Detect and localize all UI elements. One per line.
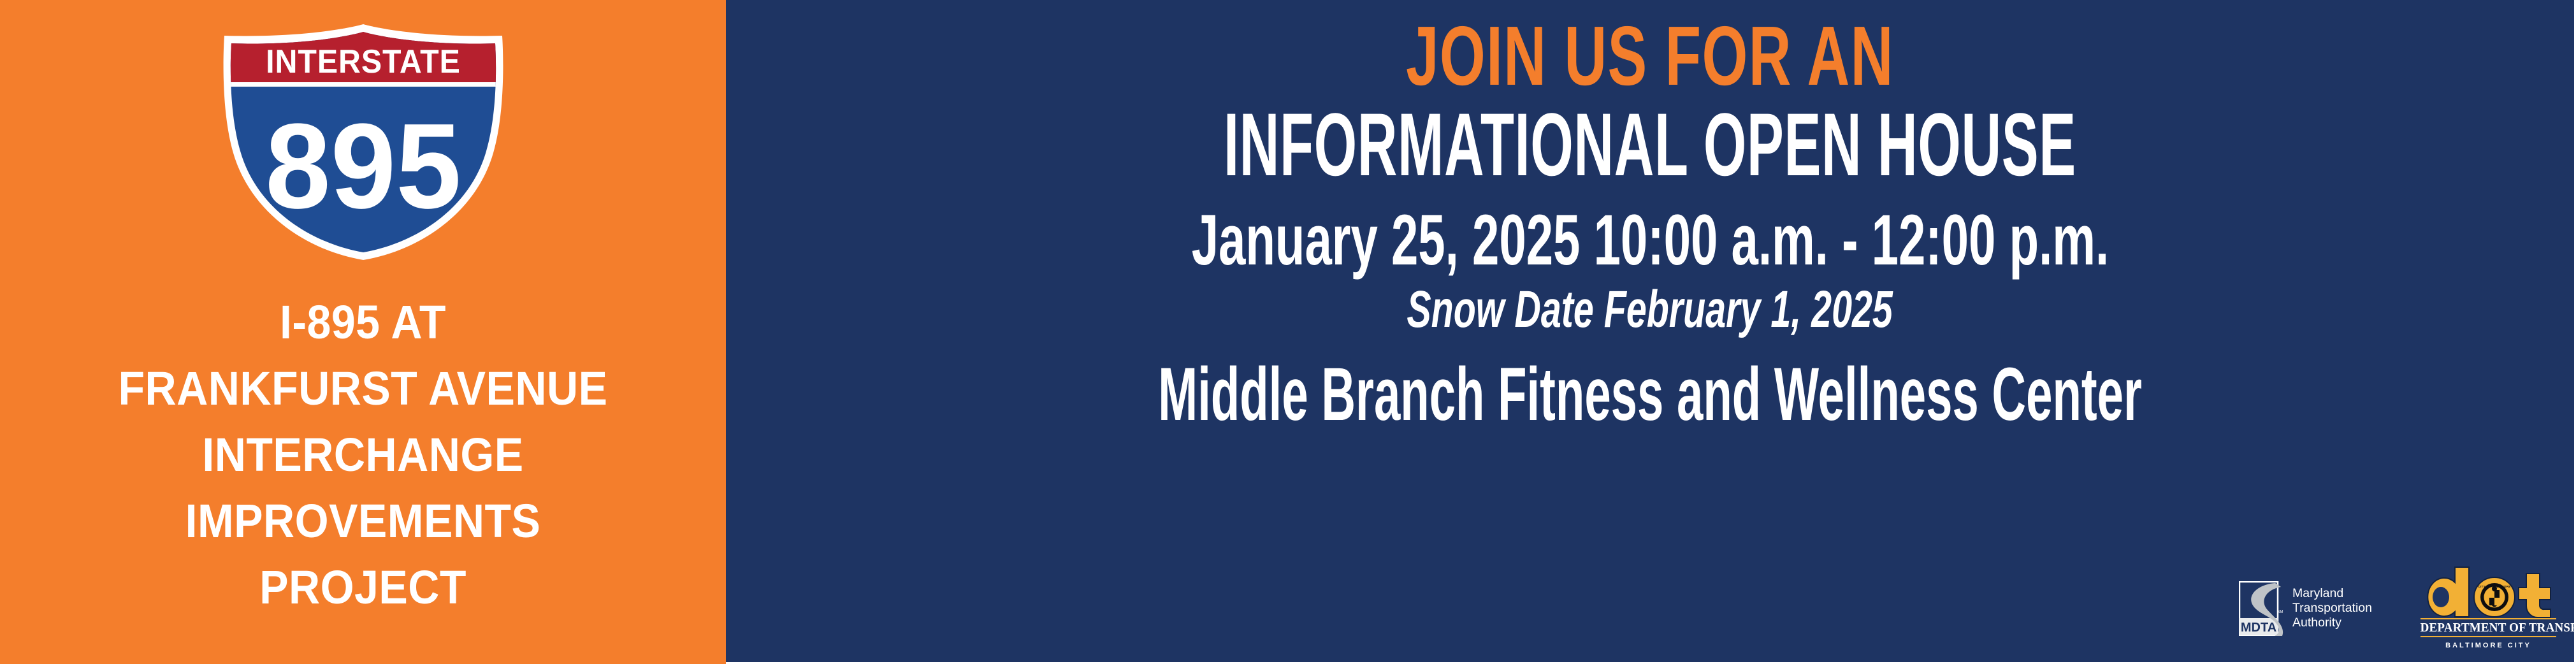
dot-rule-top [2420, 618, 2556, 619]
svg-text:MDTA: MDTA [2241, 621, 2276, 635]
mdta-name-line-2: Transportation [2292, 601, 2372, 616]
svg-text:CITY OF BALTIMORE: CITY OF BALTIMORE [2478, 585, 2510, 588]
svg-text:SM: SM [2277, 610, 2283, 614]
project-title-line-5: PROJECT [29, 554, 697, 621]
project-title-line-3: INTERCHANGE [29, 422, 697, 488]
project-title: I-895 AT FRANKFURST AVENUE INTERCHANGE I… [0, 289, 726, 621]
dot-rule-bottom [2420, 636, 2556, 637]
mdta-name-line-3: Authority [2292, 616, 2372, 630]
event-venue: Middle Branch Fitness and Wellness Cente… [1158, 354, 2142, 435]
dot-department-label: DEPARTMENT OF TRANSPORTATION [2420, 621, 2557, 635]
headline-secondary: INFORMATIONAL OPEN HOUSE [1224, 97, 2076, 192]
project-title-line-2: FRANKFURST AVENUE [29, 356, 697, 422]
dot-wordmark-icon: CITY OF BALTIMORE [2417, 566, 2560, 618]
svg-text:INTERSTATE: INTERSTATE [266, 43, 461, 80]
agency-logo-row: MDTA SM Maryland Transportation Authorit… [2239, 566, 2560, 651]
snow-date: Snow Date February 1, 2025 [1407, 280, 1893, 339]
svg-text:895: 895 [265, 98, 461, 233]
dot-city-label: BALTIMORE CITY [2417, 640, 2560, 651]
baltimore-city-dot-logo: CITY OF BALTIMORE DEPARTMENT OF TRANSPOR… [2417, 566, 2560, 651]
headline-primary: JOIN US FOR AN [1406, 11, 1894, 101]
mdta-mark-icon: MDTA SM [2239, 581, 2283, 636]
mdta-logo: MDTA SM Maryland Transportation Authorit… [2239, 581, 2372, 636]
mdta-name-line-1: Maryland [2292, 586, 2372, 601]
mdta-agency-name: Maryland Transportation Authority [2292, 586, 2372, 630]
event-details-panel: JOIN US FOR AN INFORMATIONAL OPEN HOUSE … [726, 0, 2576, 664]
project-identity-panel: INTERSTATE 895 I-895 AT FRANKFURST AVENU… [0, 0, 726, 664]
interstate-895-shield-icon: INTERSTATE 895 [219, 22, 507, 263]
event-datetime: January 25, 2025 10:00 a.m. - 12:00 p.m. [1191, 203, 2108, 278]
project-title-line-1: I-895 AT [29, 289, 697, 356]
project-title-line-4: IMPROVEMENTS [29, 488, 697, 554]
event-banner: INTERSTATE 895 I-895 AT FRANKFURST AVENU… [0, 0, 2576, 664]
